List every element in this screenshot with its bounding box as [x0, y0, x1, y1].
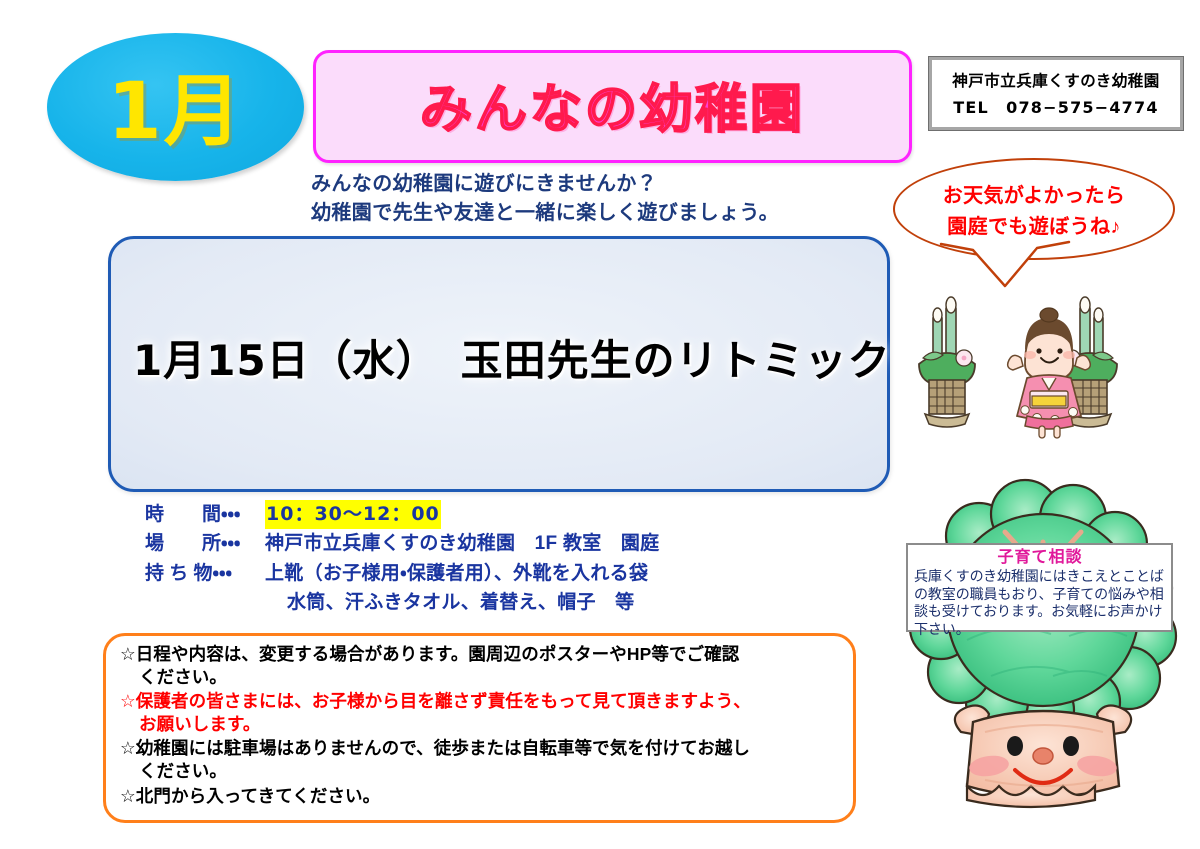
detail-row-place: 場 所・・・ 神戸市立兵庫くすのき幼稚園 1F 教室 園庭: [145, 529, 865, 558]
note-item-2: ☆保護者の皆さまには、お子様から目を離さず責任をもって見て頂きますよう、 お願い…: [120, 690, 839, 736]
detail-label-time: 時 間・・・: [145, 500, 265, 529]
note-item-1-continuation: ください。: [120, 666, 839, 689]
note-item-3-continuation: ください。: [120, 760, 839, 783]
telephone-number: TEL 078−575−4774: [953, 94, 1158, 118]
detail-value-place: 神戸市立兵庫くすのき幼稚園 1F 教室 園庭: [265, 529, 659, 558]
title-banner-text: みんなの幼稚園: [316, 51, 909, 158]
event-details: 時 間・・・ 10：30～12：00 場 所・・・ 神戸市立兵庫くすのき幼稚園 …: [145, 500, 865, 618]
note-item-4: ☆北門から入ってきてください。: [120, 785, 839, 808]
month-badge-label: 1月: [47, 31, 304, 179]
detail-items-continuation: 水筒、汗ふきタオル、着替え、帽子 等: [145, 588, 865, 617]
tree-face: [955, 706, 1131, 807]
title-banner: みんなの幼稚園: [313, 50, 912, 163]
intro-text: みんなの幼稚園に遊びにきませんか？ 幼稚園で先生や友達と一緒に楽しく遊びましょう…: [311, 170, 911, 228]
event-title: 1月15日（水） 玉田先生のリトミック: [133, 327, 873, 388]
detail-row-items: 持 ち 物・・・ 上靴（お子様用・保護者用）、外靴を入れる袋: [145, 559, 865, 588]
detail-value-time: 10：30～12：00: [265, 500, 441, 529]
counseling-box: 子育て相談 兵庫くすのき幼稚園にはきこえとことばの教室の職員もおり、子育ての悩み…: [906, 543, 1173, 632]
speech-bubble-line-1: お天気がよかったら: [943, 179, 1126, 208]
note-item-2-main: ☆保護者の皆さまには、お子様から目を離さず責任をもって見て頂きますよう、: [120, 691, 751, 711]
detail-label-items: 持 ち 物・・・: [145, 559, 265, 588]
detail-label-place: 場 所・・・: [145, 529, 265, 558]
counseling-body: 兵庫くすのき幼稚園にはきこえとことばの教室の職員もおり、子育ての悩みや相談も受け…: [914, 568, 1166, 639]
note-item-1-main: ☆日程や内容は、変更する場合があります。園周辺のポスターやHP等でご確認: [120, 644, 739, 664]
note-item-2-continuation: お願いします。: [120, 713, 839, 736]
note-item-3-main: ☆幼稚園には駐車場はありませんので、徒歩または自転車等で気を付けてお越し: [120, 738, 750, 758]
speech-bubble-line-2: 園庭でも遊ぼうね♪: [947, 210, 1121, 239]
intro-line-1: みんなの幼稚園に遊びにきませんか？: [311, 170, 911, 199]
note-item-3: ☆幼稚園には駐車場はありませんので、徒歩または自転車等で気を付けてお越し くださ…: [120, 737, 839, 783]
note-item-4-main: ☆北門から入ってきてください。: [120, 786, 380, 806]
speech-bubble: お天気がよかったら 園庭でも遊ぼうね♪: [893, 158, 1175, 268]
notes-box: ☆日程や内容は、変更する場合があります。園周辺のポスターやHP等でご確認 くださ…: [103, 633, 856, 823]
crayon-tree-mascot-icon: [893, 470, 1193, 840]
contact-box: 神戸市立兵庫くすのき幼稚園 TEL 078−575−4774: [929, 57, 1183, 130]
counseling-title: 子育て相談: [914, 548, 1166, 568]
intro-line-2: 幼稚園で先生や友達と一緒に楽しく遊びましょう。: [311, 199, 911, 228]
event-box: 1月15日（水） 玉田先生のリトミック: [108, 236, 890, 492]
note-item-1: ☆日程や内容は、変更する場合があります。園周辺のポスターやHP等でご確認 くださ…: [120, 643, 839, 689]
speech-bubble-tail-icon: [933, 240, 1073, 292]
kimono-girl-with-kadomatsu-illustration: [915, 292, 1183, 452]
flyer-canvas: 1月 みんなの幼稚園 神戸市立兵庫くすのき幼稚園 TEL 078−575−477…: [0, 0, 1200, 849]
school-name: 神戸市立兵庫くすのき幼稚園: [952, 69, 1160, 91]
detail-row-time: 時 間・・・ 10：30～12：00: [145, 500, 865, 529]
kadomatsu-left-icon: [919, 297, 975, 427]
month-badge: 1月: [47, 33, 304, 181]
detail-value-items: 上靴（お子様用・保護者用）、外靴を入れる袋: [265, 559, 648, 588]
